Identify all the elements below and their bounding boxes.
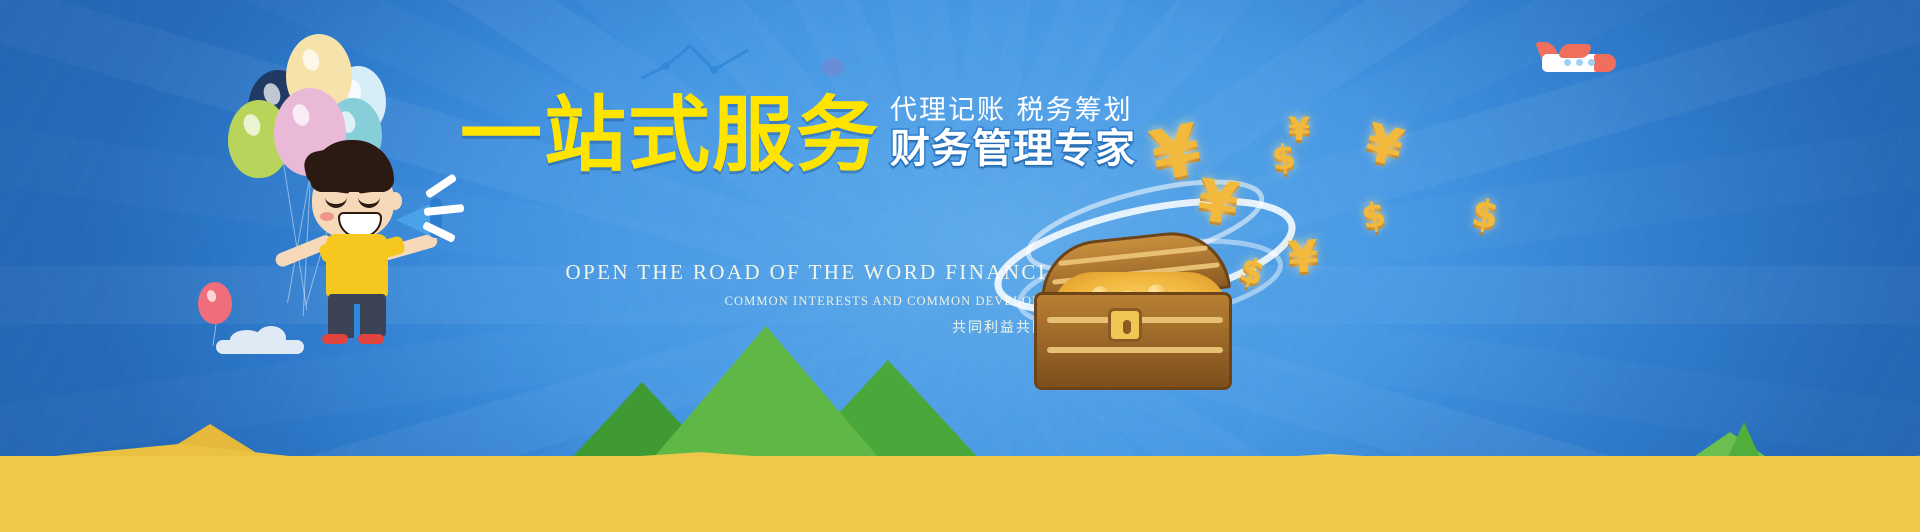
- sound-wave-icon: [418, 174, 474, 250]
- shoe-right: [358, 334, 384, 344]
- chest-lock-icon: [1108, 308, 1142, 342]
- zigzag-line-decoration: [640, 44, 750, 82]
- currency-symbol: $: [1359, 194, 1389, 238]
- cloud-icon: [216, 326, 304, 352]
- cheek-left: [320, 212, 334, 221]
- blur-blob-decoration: [822, 58, 844, 76]
- english-tagline-primary: OPEN THE ROAD OF THE WORD FINANCIAL: [420, 258, 1080, 287]
- currency-symbol: ¥: [1286, 231, 1320, 284]
- english-tagline-secondary: COMMON INTERESTS AND COMMON DEVELOPMENT: [420, 292, 1080, 311]
- legs: [328, 294, 386, 338]
- balloon-red-small: [198, 282, 232, 324]
- shoe-left: [322, 334, 348, 344]
- airplane-icon: [1538, 42, 1618, 82]
- currency-symbol: ¥: [1359, 113, 1409, 180]
- ground-landscape: [0, 362, 1920, 532]
- sand-layer-front: [0, 456, 1920, 532]
- mountain-large: [648, 326, 884, 464]
- currency-symbol: $: [1468, 190, 1502, 238]
- page-title: 一站式服务: [460, 97, 880, 176]
- promo-banner: 一站式服务 代理记账 税务筹划 财务管理专家 OPEN THE ROAD OF …: [0, 0, 1920, 532]
- currency-symbol: ¥: [1288, 110, 1310, 148]
